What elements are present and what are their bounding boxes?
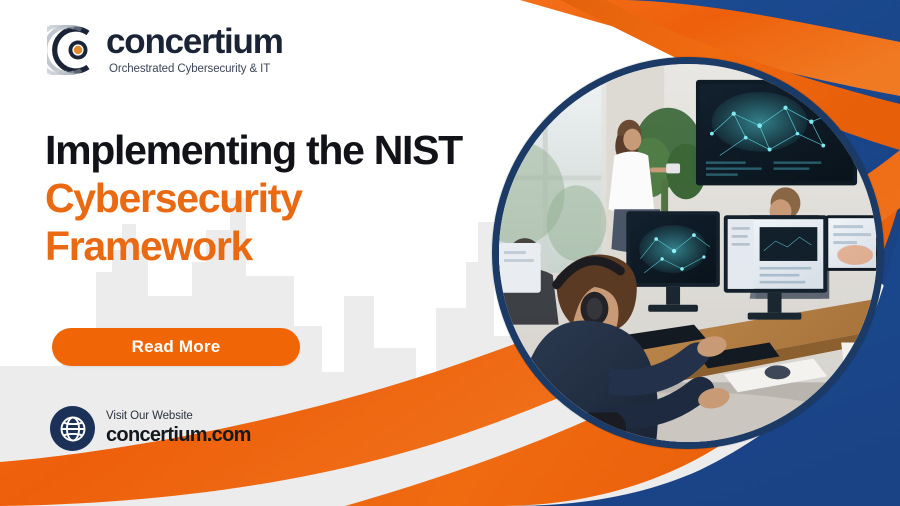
headline-line-3: Framework: [45, 222, 485, 270]
marketing-banner: concertium Orchestrated Cybersecurity & …: [0, 0, 900, 506]
logo-tagline: Orchestrated Cybersecurity & IT: [109, 63, 283, 75]
headline-line-1: Implementing the NIST: [45, 126, 485, 174]
read-more-button[interactable]: Read More: [52, 328, 300, 366]
globe-icon-badge: [50, 406, 95, 451]
headline-line-2: Cybersecurity: [45, 174, 485, 222]
website-domain: concertium.com: [106, 424, 251, 447]
security-operations-center-photo: [492, 57, 884, 449]
globe-icon: [58, 414, 88, 444]
page-title: Implementing the NIST Cybersecurity Fram…: [45, 126, 485, 270]
website-eyebrow: Visit Our Website: [106, 410, 251, 423]
concentric-arcs-logo-icon: [47, 25, 97, 75]
website-link[interactable]: Visit Our Website concertium.com: [50, 406, 251, 451]
brand-logo[interactable]: concertium Orchestrated Cybersecurity & …: [47, 24, 283, 75]
logo-wordmark: concertium: [106, 24, 283, 59]
